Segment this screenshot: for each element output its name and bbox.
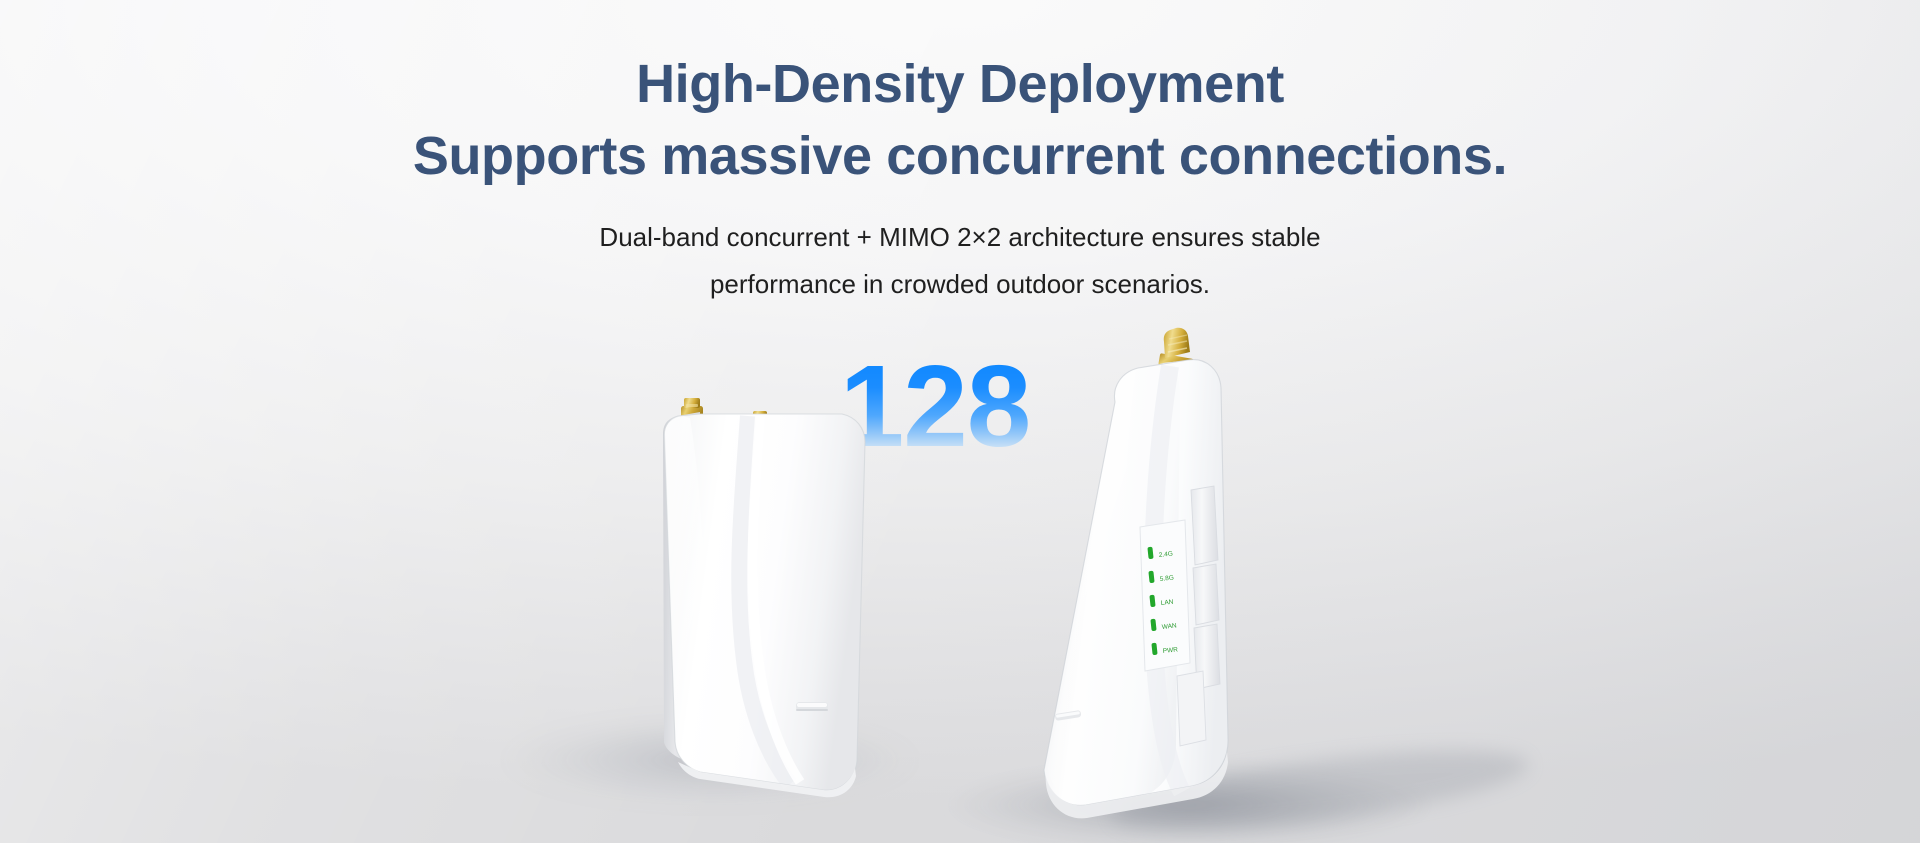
right-device-led-plate [1140, 520, 1190, 671]
page-subtitle: Dual-band concurrent + MIMO 2×2 architec… [0, 192, 1920, 308]
left-device-body [664, 414, 865, 790]
svg-text:PWR: PWR [1162, 646, 1178, 655]
left-device-crease-light [753, 416, 800, 782]
led-item-3: WAN [1150, 619, 1177, 631]
right-device-outline [1044, 360, 1228, 806]
led-item-4: PWR [1151, 643, 1178, 655]
right-device-port-rail [1177, 486, 1220, 746]
antenna-connector-2 [750, 411, 770, 431]
left-device-outline [664, 414, 865, 790]
right-device: 2.4G 5.8G LAN WAN [1044, 328, 1228, 819]
right-device-indicator-slot [1055, 710, 1082, 721]
right-device-bottom-cap [1045, 752, 1228, 818]
svg-text:WAN: WAN [1161, 622, 1177, 631]
right-device-crease [1153, 366, 1182, 792]
svg-text:LAN: LAN [1160, 599, 1174, 607]
subhead-line-1: Dual-band concurrent + MIMO 2×2 architec… [0, 214, 1920, 261]
right-device-body [1044, 360, 1228, 806]
led-item-0: 2.4G [1147, 547, 1173, 559]
hero-banner: High-Density Deployment Supports massive… [0, 0, 1920, 852]
concurrent-connections-stat: 128 [820, 348, 1050, 464]
headline-line-2: Supports massive concurrent connections. [0, 120, 1920, 192]
left-device-highlight [665, 416, 716, 772]
left-device-side [663, 412, 700, 760]
bottom-white-band [0, 843, 1920, 852]
left-device-indicator-slot [796, 702, 828, 711]
headline-line-1: High-Density Deployment [0, 48, 1920, 120]
right-antenna-connector [1158, 328, 1194, 371]
right-device-side-panel [1150, 360, 1228, 793]
left-antenna-connectors [681, 398, 770, 431]
left-device-bottom-cap [678, 762, 856, 797]
led-item-1: 5.8G [1148, 571, 1174, 583]
right-device-highlight [1048, 370, 1146, 801]
page-title: High-Density Deployment Supports massive… [0, 0, 1920, 192]
hero-copy: High-Density Deployment Supports massive… [0, 0, 1920, 308]
right-device-collar [1130, 362, 1212, 404]
right-device-shadow [940, 763, 1440, 847]
svg-text:2.4G: 2.4G [1158, 551, 1173, 559]
right-device-cast-shadow [1108, 735, 1532, 846]
led-item-2: LAN [1149, 595, 1174, 607]
antenna-connector-1 [681, 398, 703, 420]
device-shadows [500, 714, 1532, 847]
svg-text:5.8G: 5.8G [1159, 575, 1174, 583]
left-device-crease [739, 416, 790, 784]
right-device-leds: 2.4G 5.8G LAN WAN [1147, 547, 1178, 655]
left-device-shadow [500, 714, 920, 806]
subhead-line-2: performance in crowded outdoor scenarios… [0, 261, 1920, 308]
